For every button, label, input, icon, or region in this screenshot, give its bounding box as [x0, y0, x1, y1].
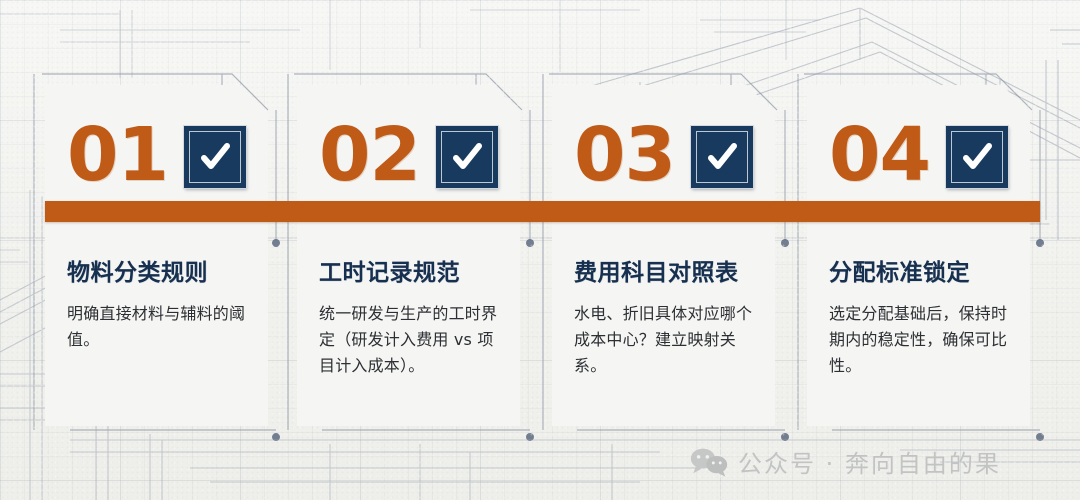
- card-description: 明确直接材料与辅料的阈值。: [67, 301, 252, 353]
- card-body: 物料分类规则 明确直接材料与辅料的阈值。: [67, 253, 252, 353]
- card-description: 选定分配基础后，保持时期内的稳定性，确保可比性。: [829, 301, 1014, 379]
- check-icon-inner: [696, 131, 748, 183]
- card-title: 物料分类规则: [67, 253, 252, 287]
- check-icon-inner: [951, 131, 1003, 183]
- infographic-canvas: 01 物料分类规则 明确直接材料与辅料的阈值。 02: [0, 0, 1080, 500]
- card-title: 费用科目对照表: [574, 253, 759, 287]
- check-icon: [691, 126, 753, 188]
- step-card-04[interactable]: 04 分配标准锁定 选定分配基础后，保持时期内的稳定性，确保可比性。: [807, 85, 1030, 426]
- step-number: 01: [67, 118, 168, 192]
- check-icon-inner: [441, 131, 493, 183]
- card-header: 03: [552, 107, 775, 203]
- step-number: 02: [319, 118, 420, 192]
- watermark-text: 公众号 · 奔向自由的果: [738, 444, 1001, 479]
- card-body: 工时记录规范 统一研发与生产的工时界定（研发计入费用 vs 项目计入成本）。: [319, 253, 504, 379]
- check-icon: [436, 126, 498, 188]
- step-card-03[interactable]: 03 费用科目对照表 水电、折旧具体对应哪个成本中心？建立映射关系。: [552, 85, 775, 426]
- card-description: 水电、折旧具体对应哪个成本中心？建立映射关系。: [574, 301, 759, 379]
- card-body: 分配标准锁定 选定分配基础后，保持时期内的稳定性，确保可比性。: [829, 253, 1014, 379]
- card-description: 统一研发与生产的工时界定（研发计入费用 vs 项目计入成本）。: [319, 301, 504, 379]
- orange-divider-bar: [45, 201, 1040, 222]
- card-header: 02: [297, 107, 520, 203]
- check-icon: [946, 126, 1008, 188]
- card-header: 01: [45, 107, 268, 203]
- wechat-icon: [690, 447, 728, 477]
- check-icon-inner: [189, 131, 241, 183]
- watermark: 公众号 · 奔向自由的果: [690, 444, 1001, 479]
- step-card-list: 01 物料分类规则 明确直接材料与辅料的阈值。 02: [0, 0, 1080, 500]
- step-number: 04: [829, 118, 930, 192]
- card-title: 工时记录规范: [319, 253, 504, 287]
- check-icon: [184, 126, 246, 188]
- step-number: 03: [574, 118, 675, 192]
- card-header: 04: [807, 107, 1030, 203]
- card-body: 费用科目对照表 水电、折旧具体对应哪个成本中心？建立映射关系。: [574, 253, 759, 379]
- step-card-02[interactable]: 02 工时记录规范 统一研发与生产的工时界定（研发计入费用 vs 项目计入成本）…: [297, 85, 520, 426]
- step-card-01[interactable]: 01 物料分类规则 明确直接材料与辅料的阈值。: [45, 85, 268, 426]
- card-title: 分配标准锁定: [829, 253, 1014, 287]
